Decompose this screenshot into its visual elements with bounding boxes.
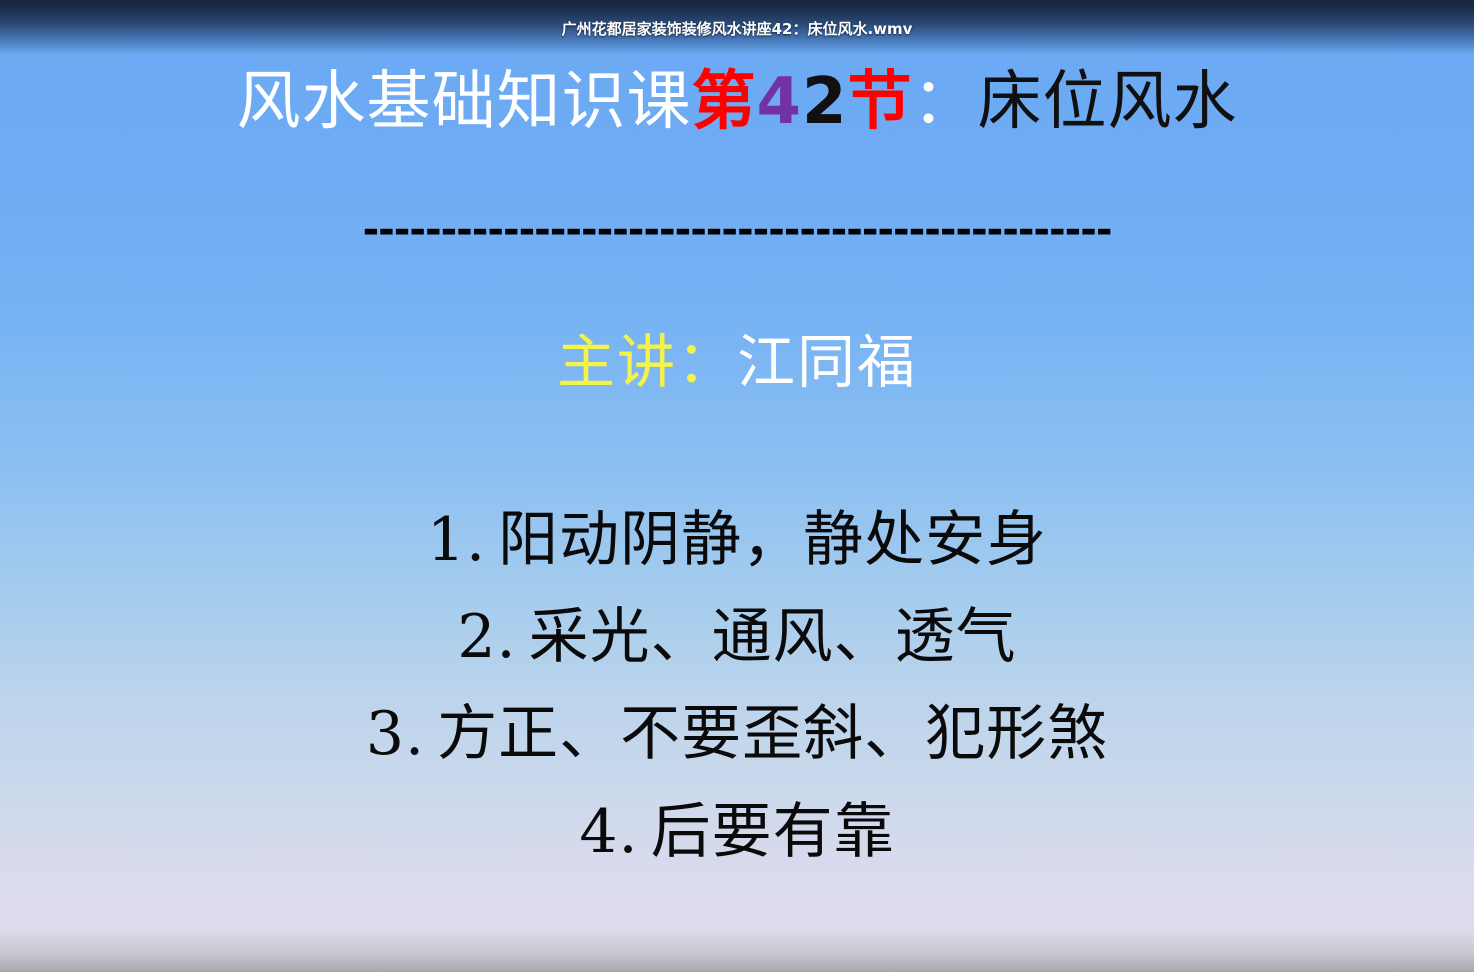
list-item-label: 阳动阴静，静处安身 xyxy=(498,505,1047,575)
list-item-number: 4. xyxy=(579,797,638,867)
slide-title-part-colon: ： xyxy=(913,65,978,139)
presenter-label: 主讲： xyxy=(557,328,737,396)
slide-canvas: 风水基础知识课第42节：床位风水 -----------------------… xyxy=(0,57,1474,972)
slide-title: 风水基础知识课第42节：床位风水 xyxy=(0,67,1474,137)
list-item: 1.阳动阴静，静处安身 xyxy=(0,492,1474,589)
list-item-label: 方正、不要歪斜、犯形煞 xyxy=(437,699,1108,769)
presenter-line: 主讲：江同福 xyxy=(0,315,1474,399)
points-list: 1.阳动阴静，静处安身 2.采光、通风、透气 3.方正、不要歪斜、犯形煞 4.后… xyxy=(0,492,1474,881)
slide-title-part-lesson-digit-2: 2 xyxy=(802,65,848,139)
list-item-label: 后要有靠 xyxy=(651,797,895,867)
dashed-divider: ----------------------------------------… xyxy=(0,207,1474,253)
slide-title-part-lesson-suffix: 节 xyxy=(848,64,913,139)
window-title-text: 广州花都居家装饰装修风水讲座42：床位风水.wmv xyxy=(562,18,913,39)
presenter-name: 江同福 xyxy=(737,328,917,396)
list-item: 3.方正、不要歪斜、犯形煞 xyxy=(0,686,1474,783)
list-item-number: 2. xyxy=(457,602,516,672)
list-item: 2.采光、通风、透气 xyxy=(0,589,1474,686)
slide-title-part-lesson-prefix: 第 xyxy=(691,64,756,139)
slide-title-part-course: 风水基础知识课 xyxy=(236,65,691,139)
list-item-number: 1. xyxy=(427,505,486,575)
slide-title-part-lesson-digit-4: 4 xyxy=(756,65,802,139)
video-player-window: 广州花都居家装饰装修风水讲座42：床位风水.wmv 风水基础知识课第42节：床位… xyxy=(0,0,1474,972)
window-title-bar: 广州花都居家装饰装修风水讲座42：床位风水.wmv xyxy=(0,0,1474,57)
list-item-number: 3. xyxy=(366,699,425,769)
list-item-label: 采光、通风、透气 xyxy=(529,602,1017,672)
list-item: 4.后要有靠 xyxy=(0,784,1474,881)
slide-title-part-topic: 床位风水 xyxy=(978,65,1238,139)
